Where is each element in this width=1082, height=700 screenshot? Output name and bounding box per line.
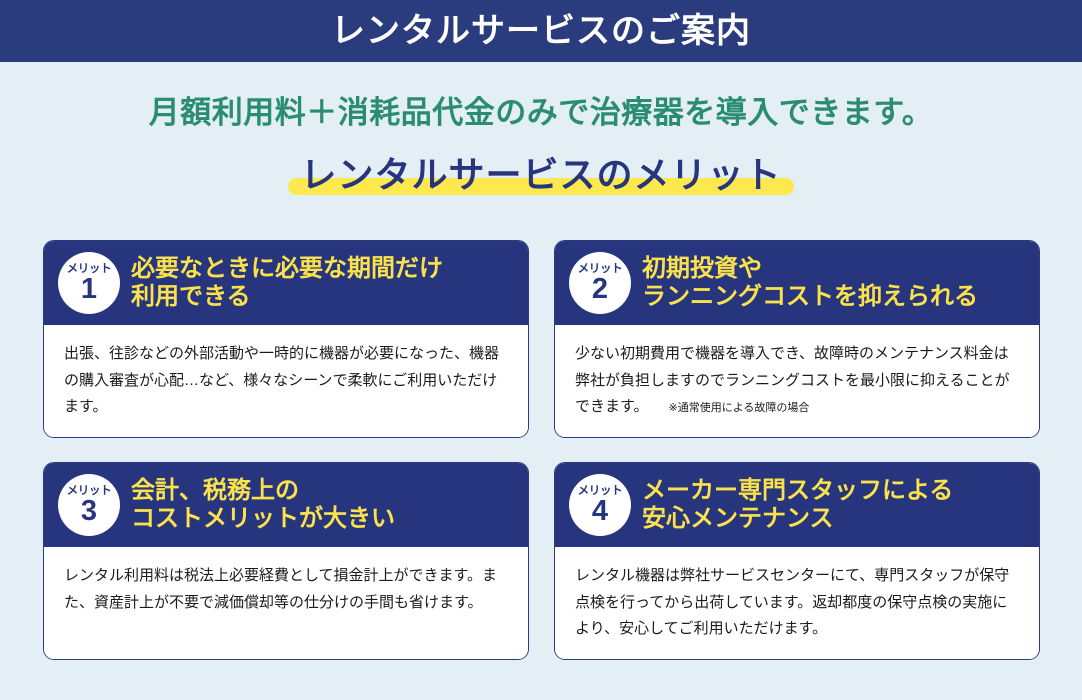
merit-card-4-title: メーカー専門スタッフによる 安心メンテナンス xyxy=(642,477,953,534)
merit-card-1: メリット 1 必要なときに必要な期間だけ 利用できる 出張、往診などの外部活動や… xyxy=(43,240,529,438)
merit-card-2: メリット 2 初期投資や ランニングコストを抑えられる 少ない初期費用で機器を導… xyxy=(554,240,1040,438)
merit-card-3-body: レンタル利用料は税法上必要経費として損金計上ができます。また、資産計上が不要で減… xyxy=(44,547,528,659)
merit-card-4-header: メリット 4 メーカー専門スタッフによる 安心メンテナンス xyxy=(555,463,1039,547)
merit-card-grid: メリット 1 必要なときに必要な期間だけ 利用できる 出張、往診などの外部活動や… xyxy=(43,240,1040,660)
merit-card-2-body: 少ない初期費用で機器を導入でき、故障時のメンテナンス料金は弊社が負担しますのでラ… xyxy=(555,325,1039,437)
merit-card-1-header: メリット 1 必要なときに必要な期間だけ 利用できる xyxy=(44,241,528,325)
merit-card-1-body: 出張、往診などの外部活動や一時的に機器が必要になった、機器の購入審査が心配…など… xyxy=(44,325,528,437)
merit-card-3-text: レンタル利用料は税法上必要経費として損金計上ができます。また、資産計上が不要で減… xyxy=(64,567,497,611)
merit-badge-number: 3 xyxy=(81,497,97,526)
merit-badge-number: 4 xyxy=(592,497,608,526)
merit-card-4-body: レンタル機器は弊社サービスセンターにて、専門スタッフが保守点検を行ってから出荷し… xyxy=(555,547,1039,659)
merit-heading: レンタルサービスのメリット xyxy=(294,152,787,197)
merit-card-3-header: メリット 3 会計、税務上の コストメリットが大きい xyxy=(44,463,528,547)
merit-badge-3: メリット 3 xyxy=(58,474,120,536)
merit-card-3-title: 会計、税務上の コストメリットが大きい xyxy=(131,477,395,534)
merit-heading-container: レンタルサービスのメリット xyxy=(0,152,1082,212)
merit-card-1-text: 出張、往診などの外部活動や一時的に機器が必要になった、機器の購入審査が心配…など… xyxy=(64,345,499,415)
merit-badge-number: 1 xyxy=(81,275,97,304)
lead-statement: 月額利用料＋消耗品代金のみで治療器を導入できます。 xyxy=(0,96,1082,130)
header-banner: レンタルサービスのご案内 xyxy=(0,0,1082,62)
merit-card-4-text: レンタル機器は弊社サービスセンターにて、専門スタッフが保守点検を行ってから出荷し… xyxy=(575,567,1009,637)
merit-card-3: メリット 3 会計、税務上の コストメリットが大きい レンタル利用料は税法上必要… xyxy=(43,462,529,660)
merit-heading-label: レンタルサービスのメリット xyxy=(300,154,781,195)
merit-card-1-title: 必要なときに必要な期間だけ 利用できる xyxy=(131,255,443,312)
merit-card-2-note: ※通常使用による故障の場合 xyxy=(669,402,810,414)
merit-card-4: メリット 4 メーカー専門スタッフによる 安心メンテナンス レンタル機器は弊社サ… xyxy=(554,462,1040,660)
merit-badge-2: メリット 2 xyxy=(569,252,631,314)
merit-badge-4: メリット 4 xyxy=(569,474,631,536)
merit-badge-number: 2 xyxy=(592,275,608,304)
merit-card-2-header: メリット 2 初期投資や ランニングコストを抑えられる xyxy=(555,241,1039,325)
page-title: レンタルサービスのご案内 xyxy=(331,14,751,48)
rental-service-infographic: レンタルサービスのご案内 月額利用料＋消耗品代金のみで治療器を導入できます。 レ… xyxy=(0,0,1082,700)
merit-badge-1: メリット 1 xyxy=(58,252,120,314)
merit-card-2-title: 初期投資や ランニングコストを抑えられる xyxy=(642,255,978,312)
